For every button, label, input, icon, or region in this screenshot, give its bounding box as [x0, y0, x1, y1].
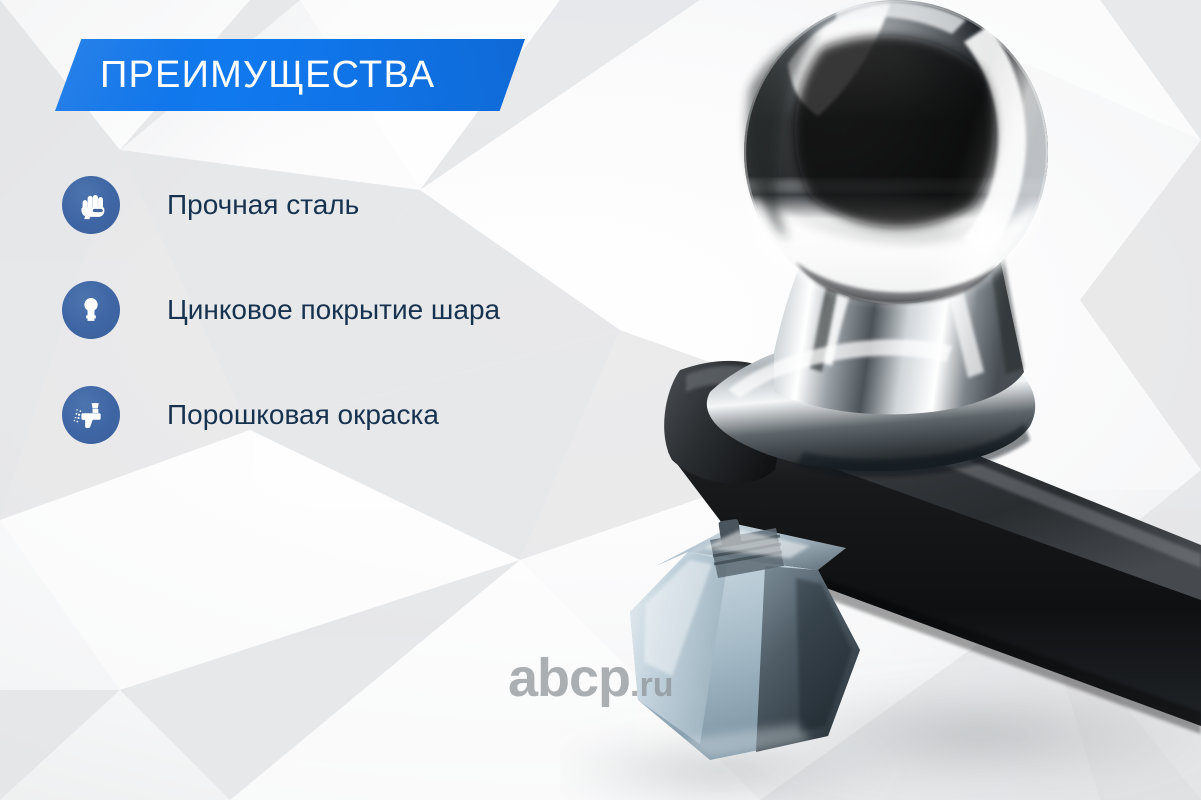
background-corner-bottom-right: [761, 490, 1201, 800]
watermark: abcp.ru: [508, 647, 674, 709]
page-title: ПРЕИМУЩЕСТВА: [100, 41, 530, 109]
tow-ball-icon: [62, 281, 120, 339]
feature-label: Цинковое покрытие шара: [167, 281, 500, 339]
feature-item-strong-steel: Прочная сталь: [62, 176, 682, 281]
promo-banner-image: ПРЕИМУЩЕСТВА Прочная сталь: [0, 0, 1201, 800]
watermark-tld: .ru: [630, 666, 673, 704]
feature-label: Прочная сталь: [167, 176, 359, 234]
feature-item-zinc-coating: Цинковое покрытие шара: [62, 281, 682, 386]
feature-list: Прочная сталь Цинковое покрытие шара: [62, 176, 682, 491]
fist-icon: [62, 176, 120, 234]
feature-item-powder-coating: Порошковая окраска: [62, 386, 682, 491]
feature-label: Порошковая окраска: [167, 386, 439, 444]
spray-gun-icon: [62, 386, 120, 444]
watermark-name: abcp: [508, 648, 630, 708]
